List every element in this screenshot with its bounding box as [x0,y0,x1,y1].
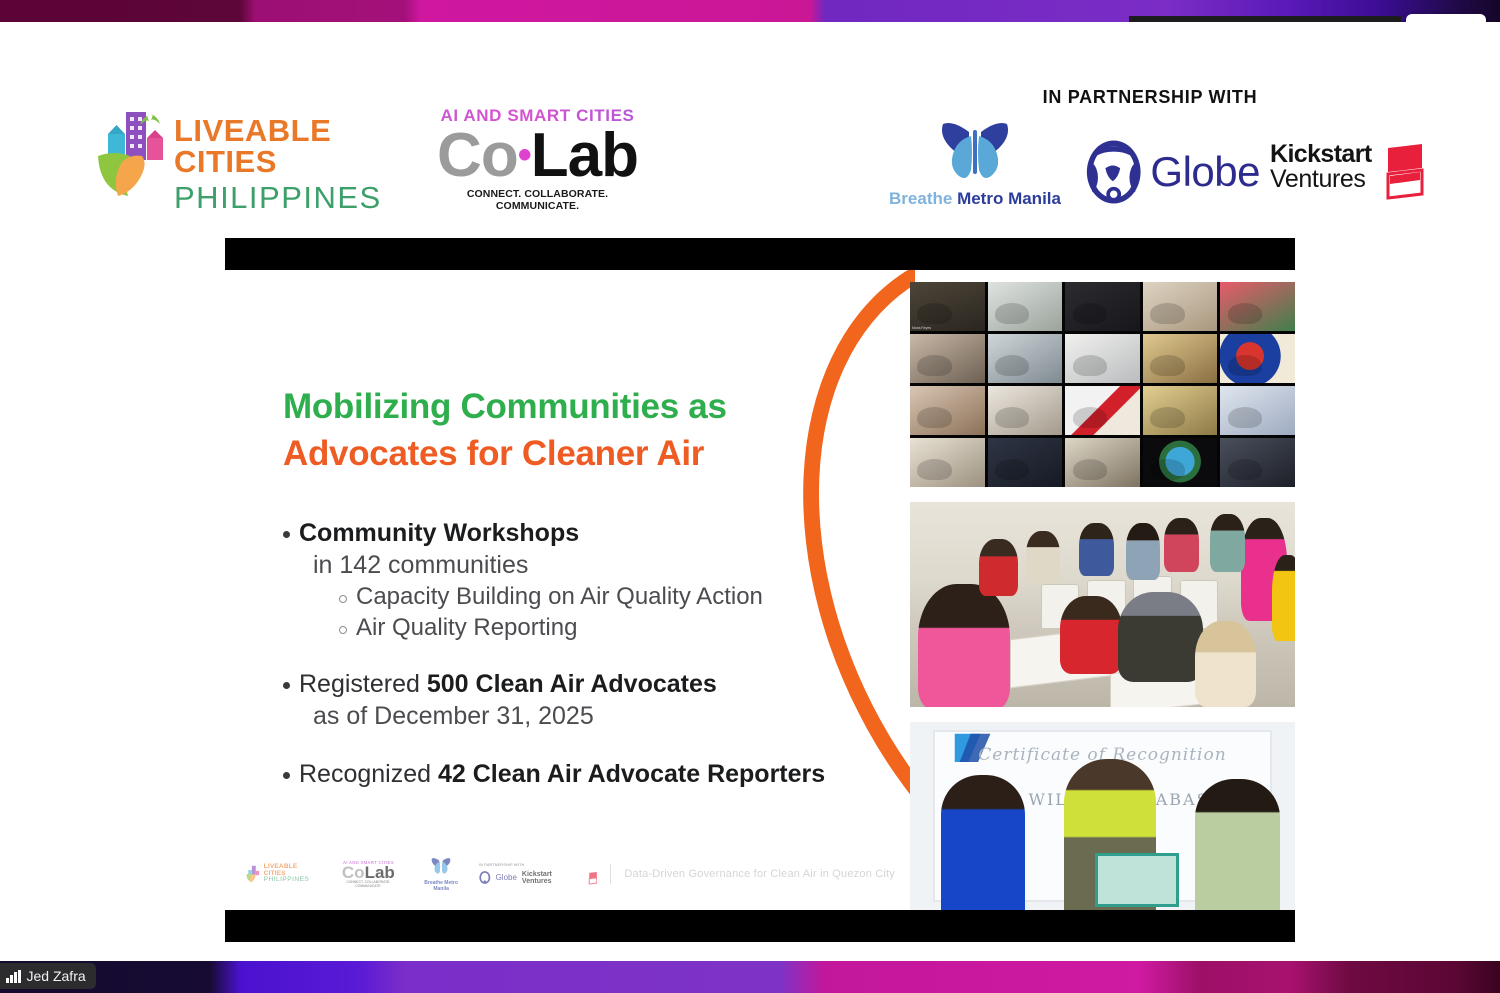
kickstart-flag-logo-icon [1378,142,1426,200]
footer-tagline: Data-Driven Governance for Clean Air in … [624,868,895,880]
bullet-row: Recognized 42 Clean Air Advocate Reporte… [283,759,883,790]
globe-wordmark: Globe [1150,148,1260,196]
partners-cluster: IN PARTNERSHIP WITH Breathe Metro Manila [860,80,1460,230]
video-tile [1220,334,1295,383]
letterbox-bottom [225,910,1295,942]
sub-bullet-row: Air Quality Reporting [339,613,883,644]
person-shape [979,539,1018,596]
person-shape [918,584,1010,707]
bullet-bold-text: Community Workshops [299,519,579,547]
video-tile [1143,334,1218,383]
bullet-block-workshops: Community Workshops in 142 communities C… [283,518,883,643]
in-partnership-with-label: IN PARTNERSHIP WITH [860,87,1440,108]
bottom-gradient-band [0,961,1500,993]
video-tile [1143,282,1218,331]
footer-liveable-cities-logo: LIVEABLE CITIES PHILIPPINES [245,864,320,884]
footer-globe-word: Globe [496,873,517,882]
footer-partners-cluster: IN PARTNERSHIP WITH Globe Kickstart Vent… [479,863,597,885]
footer-liveable-line-1: LIVEABLE CITIES [264,864,321,878]
bullet-block-reporters: Recognized 42 Clean Air Advocate Reporte… [283,759,883,790]
liveable-cities-line-1: LIVEABLE CITIES [174,115,412,177]
kickstart-ventures-logo: Kickstart Ventures [1270,142,1435,212]
audio-level-bars-icon [6,970,21,983]
sponsor-logo-strip: LIVEABLE CITIES PHILIPPINES AI AND SMART… [0,22,1500,232]
bullet-row: Registered 500 Clean Air Advocates [283,669,883,700]
video-tile [910,386,985,435]
sub-bullet-row: Capacity Building on Air Quality Action [339,582,883,613]
kickstart-line-1: Kickstart [1270,142,1372,167]
colab-dot-icon: • [518,133,531,177]
video-tile [910,438,985,487]
letterbox-top [225,238,1295,270]
kickstart-wordmark: Kickstart Ventures [1270,142,1372,192]
bullet-text: Registered 500 Clean Air Advocates [299,669,717,700]
liveable-cities-wordmark: LIVEABLE CITIES PHILIPPINES [174,115,412,219]
globe-hand-logo-icon [479,870,491,885]
city-in-hands-logo-icon [245,865,261,883]
colab-word-lab: Lab [531,121,638,190]
breathe-metro-manila-wordmark: Breathe Metro Manila [880,189,1070,209]
bmm-word-metro-manila: Metro Manila [957,189,1061,208]
video-tile [988,282,1063,331]
active-speaker-name: Jed Zafra [27,968,86,984]
person-shape [1118,592,1203,682]
shared-screen-slide[interactable]: Mobilizing Communities as Advocates for … [225,238,1295,942]
person-shape [1026,531,1061,584]
video-grid: Maria Reyes [910,282,1295,487]
kickstart-line-2: Ventures [1270,167,1372,192]
bullet-plain-text: Recognized [299,760,438,788]
butterfly-lungs-logo-icon [929,120,1021,182]
certificate-paper [1095,853,1180,906]
bullet-dot-icon [283,772,290,779]
footer-divider [610,864,611,884]
video-tile [1065,438,1140,487]
butterfly-lungs-logo-icon [428,857,454,875]
person-shape [1195,779,1280,910]
bullet-second-line: as of December 31, 2025 [313,700,883,733]
slide-title: Mobilizing Communities as Advocates for … [283,384,863,477]
liveable-cities-philippines-logo: LIVEABLE CITIES PHILIPPINES [92,106,412,206]
globe-logo: Globe [1085,132,1260,212]
colab-word-co: Co [437,121,518,190]
video-tile [988,386,1063,435]
footer-breathe-metro-manila-logo: Breathe Metro Manila [416,857,466,892]
sub-bullet-text: Capacity Building on Air Quality Action [356,582,763,613]
video-tile: Maria Reyes [910,282,985,331]
liveable-cities-line-2: PHILIPPINES [174,177,412,219]
bullet-bold-text: 500 Clean Air Advocates [427,670,717,698]
bullet-dot-icon [283,531,290,538]
bullet-block-advocates: Registered 500 Clean Air Advocates as of… [283,669,883,733]
slide-footer: LIVEABLE CITIES PHILIPPINES AI AND SMART… [245,856,895,892]
sub-bullet-text: Air Quality Reporting [356,613,577,644]
video-tile [988,438,1063,487]
kickstart-flag-logo-icon [587,871,598,885]
active-speaker-chip[interactable]: Jed Zafra [0,963,96,989]
video-tile [1220,282,1295,331]
online-meeting-grid-photo: Maria Reyes [910,282,1295,487]
bullet-text: Recognized 42 Clean Air Advocate Reporte… [299,759,825,790]
colab-wordmark: Co•Lab [430,126,645,186]
slide-canvas: Mobilizing Communities as Advocates for … [225,270,1295,910]
bullet-bold-text: 42 Clean Air Advocate Reporters [438,760,825,788]
bullet-second-line: in 142 communities [313,549,883,582]
video-tile [1220,386,1295,435]
footer-bmm-word: Breathe Metro Manila [416,880,466,892]
person-shape [1272,555,1295,641]
bullet-dot-icon [283,682,290,689]
person-shape [1079,523,1114,576]
person-shape [1210,514,1245,571]
video-tile [1065,386,1140,435]
slide-bullet-list: Community Workshops in 142 communities C… [283,518,883,816]
certificate-awarding-photo: Certificate of Recognition MR. WILLIAM C… [910,722,1295,910]
video-tile [1065,334,1140,383]
footer-colab-logo: AI AND SMART CITIES CoLab CONNECT. COLLA… [333,860,403,888]
bmm-word-breathe: Breathe [889,189,957,208]
breathe-metro-manila-logo: Breathe Metro Manila [880,120,1070,225]
footer-liveable-line-2: PHILIPPINES [264,877,321,884]
footer-colab-wordmark: CoLab [333,865,403,880]
footer-kickstart-word: Kickstart Ventures [522,871,582,885]
bullet-row: Community Workshops [283,518,883,549]
colab-tagline-bottom: CONNECT. COLLABORATE. COMMUNICATE. [430,188,645,212]
footer-partners-label: IN PARTNERSHIP WITH [479,863,525,867]
city-in-hands-logo-icon [92,108,170,200]
slide-title-line-2: Advocates for Cleaner Air [283,431,863,478]
person-shape [1126,523,1161,580]
community-workshop-photo [910,502,1295,707]
video-tile [910,334,985,383]
person-shape [1164,518,1199,571]
sub-bullet-ring-icon [339,626,347,634]
colab-logo: AI AND SMART CITIES Co•Lab CONNECT. COLL… [430,106,645,214]
video-tile [988,334,1063,383]
video-tile [1065,282,1140,331]
webinar-window: Talking: Jed Zafra Sign in Jed Zafra [0,0,1500,993]
person-shape [941,775,1026,910]
bullet-text: Community Workshops [299,518,579,549]
bullet-plain-text: Registered [299,670,427,698]
video-tile [1143,438,1218,487]
video-tile [1143,386,1218,435]
globe-hand-logo-icon [1085,136,1142,208]
slide-title-line-1: Mobilizing Communities as [283,384,863,431]
sub-bullet-ring-icon [339,595,347,603]
person-shape [1060,596,1122,674]
person-shape [1195,621,1257,707]
video-tile [1220,438,1295,487]
